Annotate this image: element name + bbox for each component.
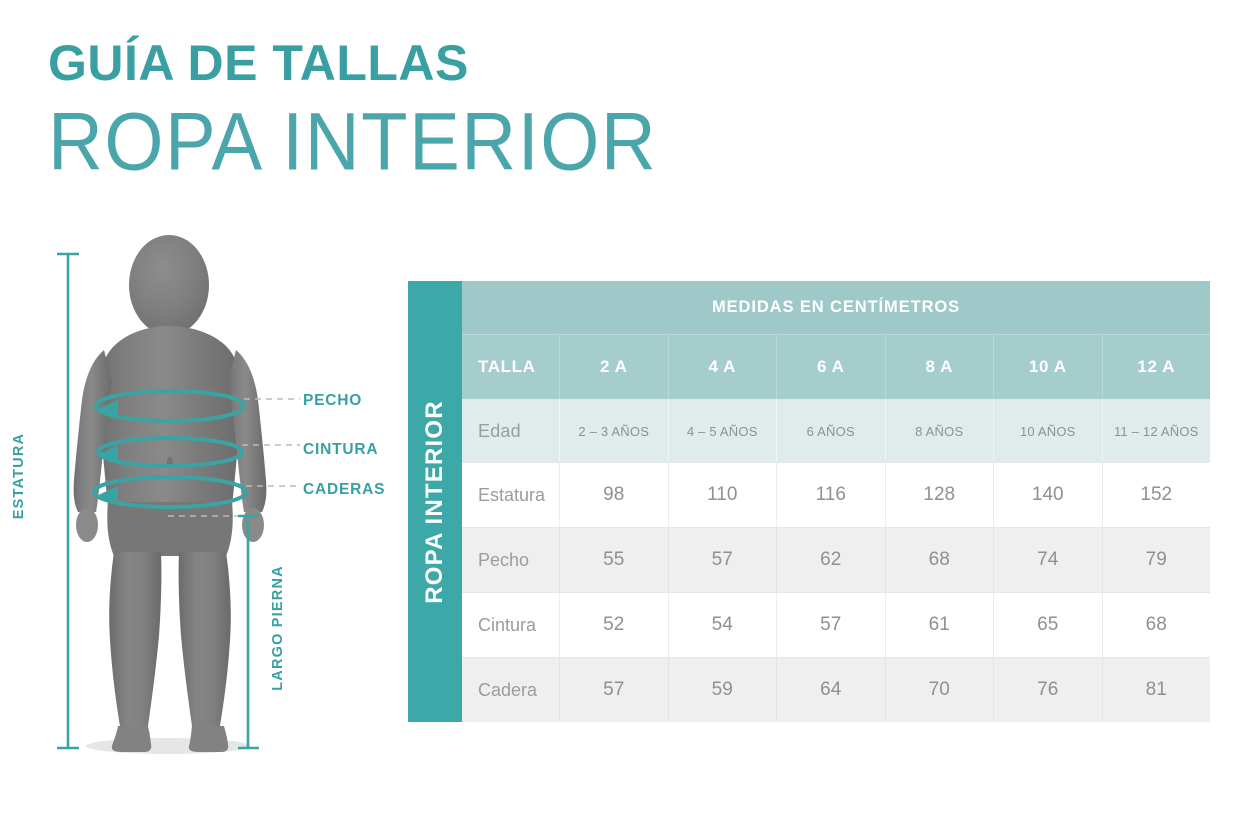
cell-cintura-2: 54 bbox=[668, 593, 777, 657]
cell-cintura-5: 65 bbox=[993, 593, 1102, 657]
cell-pecho-4: 68 bbox=[885, 528, 994, 592]
cell-edad-5: 10 AÑOS bbox=[993, 400, 1102, 462]
table-row: Cintura 52 54 57 61 65 68 bbox=[462, 592, 1210, 657]
cell-estatura-5: 140 bbox=[993, 463, 1102, 527]
table-row: Edad 2 – 3 AÑOS 4 – 5 AÑOS 6 AÑOS 8 AÑOS… bbox=[462, 399, 1210, 462]
header-cell-size-5: 10 A bbox=[993, 335, 1102, 399]
table-header-row: TALLA 2 A 4 A 6 A 8 A 10 A 12 A bbox=[462, 335, 1210, 399]
figure-hand-left bbox=[76, 508, 98, 542]
cell-cadera-4: 70 bbox=[885, 658, 994, 722]
row-label-cadera: Cadera bbox=[462, 658, 559, 722]
page-title-block: GUÍA DE TALLAS ROPA INTERIOR bbox=[48, 38, 948, 184]
page-title: GUÍA DE TALLAS bbox=[48, 38, 948, 88]
row-label-pecho: Pecho bbox=[462, 528, 559, 592]
callout-label-caderas: CADERAS bbox=[303, 481, 385, 499]
largo-pierna-dimension-line bbox=[238, 516, 259, 748]
header-cell-size-1: 2 A bbox=[559, 335, 668, 399]
cell-cadera-3: 64 bbox=[776, 658, 885, 722]
cell-pecho-3: 62 bbox=[776, 528, 885, 592]
cell-cintura-4: 61 bbox=[885, 593, 994, 657]
row-label-cintura: Cintura bbox=[462, 593, 559, 657]
cell-estatura-4: 128 bbox=[885, 463, 994, 527]
figure-pelvis bbox=[107, 502, 233, 556]
cell-edad-1: 2 – 3 AÑOS bbox=[559, 400, 668, 462]
cell-estatura-2: 110 bbox=[668, 463, 777, 527]
cell-cadera-1: 57 bbox=[559, 658, 668, 722]
table-row: Estatura 98 110 116 128 140 152 bbox=[462, 462, 1210, 527]
page-subtitle: ROPA INTERIOR bbox=[48, 94, 948, 191]
header-cell-size-6: 12 A bbox=[1102, 335, 1211, 399]
cell-pecho-5: 74 bbox=[993, 528, 1102, 592]
category-band: ROPA INTERIOR bbox=[408, 281, 462, 722]
figure-head bbox=[129, 235, 209, 335]
figure-leg-right bbox=[179, 552, 231, 738]
cell-cintura-6: 68 bbox=[1102, 593, 1211, 657]
cell-edad-3: 6 AÑOS bbox=[776, 400, 885, 462]
row-label-estatura: Estatura bbox=[462, 463, 559, 527]
cell-pecho-6: 79 bbox=[1102, 528, 1211, 592]
table-row: Cadera 57 59 64 70 76 81 bbox=[462, 657, 1210, 722]
cell-pecho-1: 55 bbox=[559, 528, 668, 592]
units-banner: MEDIDAS EN CENTÍMETROS bbox=[462, 281, 1210, 335]
mannequin-figure-svg bbox=[0, 230, 400, 770]
cell-edad-4: 8 AÑOS bbox=[885, 400, 994, 462]
estatura-label: ESTATURA bbox=[11, 433, 27, 519]
row-label-edad: Edad bbox=[462, 400, 559, 462]
category-band-label: ROPA INTERIOR bbox=[421, 400, 449, 604]
header-cell-size-2: 4 A bbox=[668, 335, 777, 399]
cell-estatura-1: 98 bbox=[559, 463, 668, 527]
cell-edad-6: 11 – 12 AÑOS bbox=[1102, 400, 1211, 462]
size-table-grid: MEDIDAS EN CENTÍMETROS TALLA 2 A 4 A 6 A… bbox=[462, 281, 1210, 722]
cell-cadera-5: 76 bbox=[993, 658, 1102, 722]
figure-leg-left bbox=[109, 552, 161, 738]
callout-label-cintura: CINTURA bbox=[303, 441, 378, 459]
cell-estatura-3: 116 bbox=[776, 463, 885, 527]
figure-hand-right bbox=[242, 508, 264, 542]
cell-cadera-2: 59 bbox=[668, 658, 777, 722]
figure-foot-right bbox=[189, 726, 228, 752]
cell-cintura-3: 57 bbox=[776, 593, 885, 657]
largo-pierna-label: LARGO PIERNA bbox=[270, 565, 286, 691]
table-row: Pecho 55 57 62 68 74 79 bbox=[462, 527, 1210, 592]
callout-label-pecho: PECHO bbox=[303, 392, 362, 410]
figure-torso bbox=[99, 326, 242, 532]
size-table: ROPA INTERIOR MEDIDAS EN CENTÍMETROS TAL… bbox=[408, 281, 1210, 722]
cell-estatura-6: 152 bbox=[1102, 463, 1211, 527]
figure-foot-left bbox=[112, 726, 151, 752]
cell-edad-2: 4 – 5 AÑOS bbox=[668, 400, 777, 462]
header-cell-size-4: 8 A bbox=[885, 335, 994, 399]
cell-cintura-1: 52 bbox=[559, 593, 668, 657]
cell-pecho-2: 57 bbox=[668, 528, 777, 592]
header-cell-talla: TALLA bbox=[462, 335, 559, 399]
header-cell-size-3: 6 A bbox=[776, 335, 885, 399]
mannequin-diagram: ESTATURA LARGO PIERNA PECHO CINTURA CADE… bbox=[0, 230, 400, 770]
cell-cadera-6: 81 bbox=[1102, 658, 1211, 722]
